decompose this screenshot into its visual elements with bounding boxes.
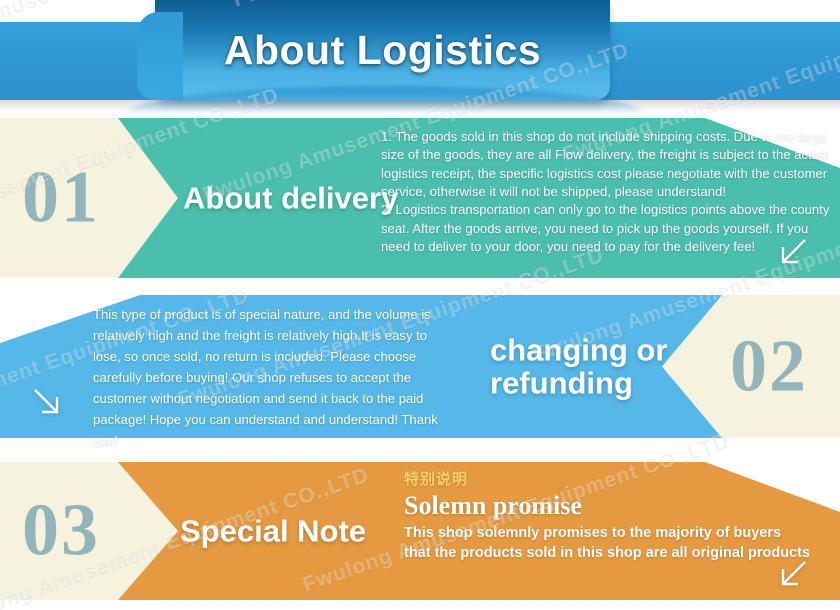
section-02-heading: changing or refunding bbox=[490, 333, 667, 400]
section-02-number: 02 bbox=[730, 324, 808, 409]
arrow-down-left-icon bbox=[776, 236, 810, 270]
section-03: 03 Special Note 特别说明 Solemn promise This… bbox=[0, 462, 840, 600]
section-03-body: 特别说明 Solemn promise This shop solemnly p… bbox=[404, 468, 834, 564]
arrow-down-left-icon bbox=[776, 558, 810, 592]
section-03-promise-line-2: that the products sold in this shop are … bbox=[404, 543, 834, 564]
header-seam-shadow bbox=[0, 100, 840, 112]
arrow-down-right-icon bbox=[30, 386, 64, 420]
section-03-cn-label: 特别说明 bbox=[404, 468, 834, 489]
section-02-paragraph-1: This type of product is of special natur… bbox=[93, 305, 443, 452]
footer-spacer bbox=[0, 600, 840, 610]
infographic-canvas: About Logistics 01 About delivery 1. The… bbox=[0, 0, 840, 610]
header-banner: About Logistics bbox=[0, 0, 840, 112]
section-01-paragraph-1: 1. The goods sold in this shop do not in… bbox=[381, 128, 833, 201]
section-01-paragraph-2: 2. Logistics transportation can only go … bbox=[381, 201, 833, 256]
section-01: 01 About delivery 1. The goods sold in t… bbox=[0, 118, 840, 278]
section-02-heading-line-2: refunding bbox=[490, 367, 667, 400]
section-02-heading-line-1: changing or bbox=[490, 333, 667, 366]
section-03-number: 03 bbox=[22, 489, 100, 574]
section-01-heading: About delivery bbox=[183, 181, 398, 214]
section-01-body: 1. The goods sold in this shop do not in… bbox=[381, 128, 833, 256]
page-title: About Logistics bbox=[155, 0, 610, 100]
section-01-number: 01 bbox=[22, 156, 100, 241]
section-03-heading: Special Note bbox=[180, 514, 366, 547]
section-02-body: This type of product is of special natur… bbox=[93, 305, 443, 452]
section-03-promise-line-1: This shop solemnly promises to the major… bbox=[404, 523, 834, 544]
section-02: 02 changing or refunding This type of pr… bbox=[0, 295, 840, 438]
section-03-solemn-title: Solemn promise bbox=[404, 491, 834, 521]
